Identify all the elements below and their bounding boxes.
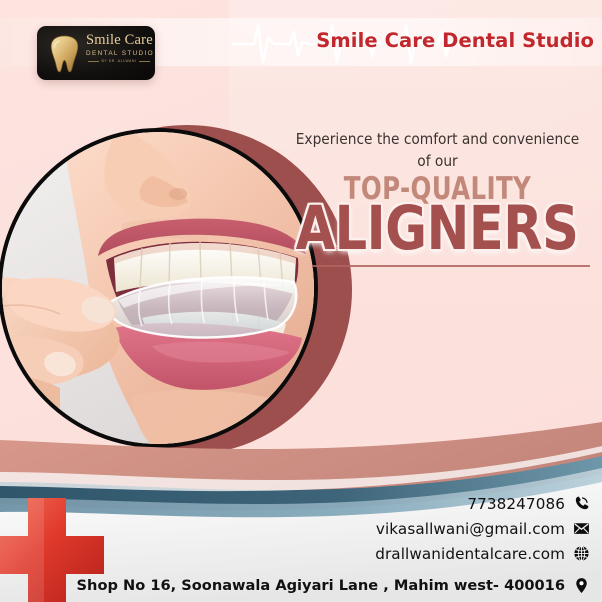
photo-circle (0, 128, 318, 448)
contact-website-text: drallwanidentalcare.com (375, 545, 565, 563)
contact-list: 7738247086 vikasallwani@gmail.com drallw… (160, 491, 590, 566)
phone-icon (573, 495, 590, 512)
contact-email[interactable]: vikasallwani@gmail.com (160, 516, 590, 541)
logo-subtitle: DENTAL STUDIO (86, 49, 152, 58)
poster-canvas: Smile Care Dental Studio Smile Care DENT… (0, 0, 602, 602)
contact-phone[interactable]: 7738247086 (160, 491, 590, 516)
main-headline: ALIGNERS (289, 196, 585, 262)
globe-icon (573, 545, 590, 562)
tagline-line-1: Experience the comfort and convenience (296, 130, 580, 148)
contact-address-text: Shop No 16, Soonawala Agiyari Lane , Mah… (77, 577, 565, 594)
logo-brand: Smile Care (86, 33, 152, 48)
envelope-icon (573, 520, 590, 537)
logo-byline: BY DR. ALLWANI (86, 58, 152, 64)
contact-phone-text: 7738247086 (467, 495, 565, 513)
aligner-photo (2, 132, 314, 444)
logo-text-group: Smile Care DENTAL STUDIO BY DR. ALLWANI (86, 33, 152, 64)
contact-address[interactable]: Shop No 16, Soonawala Agiyari Lane , Mah… (77, 577, 590, 594)
logo-card: Smile Care DENTAL STUDIO BY DR. ALLWANI (37, 26, 155, 80)
location-pin-icon (573, 577, 590, 594)
contact-website[interactable]: drallwanidentalcare.com (160, 541, 590, 566)
tagline: Experience the comfort and convenience o… (285, 128, 590, 172)
tagline-line-2: of our (417, 152, 457, 170)
contact-email-text: vikasallwani@gmail.com (376, 520, 565, 538)
header-title: Smile Care Dental Studio (316, 29, 594, 52)
tooth-icon (48, 34, 81, 74)
woman-inserting-clear-aligner-photo (2, 132, 314, 444)
headline-divider (312, 265, 590, 267)
